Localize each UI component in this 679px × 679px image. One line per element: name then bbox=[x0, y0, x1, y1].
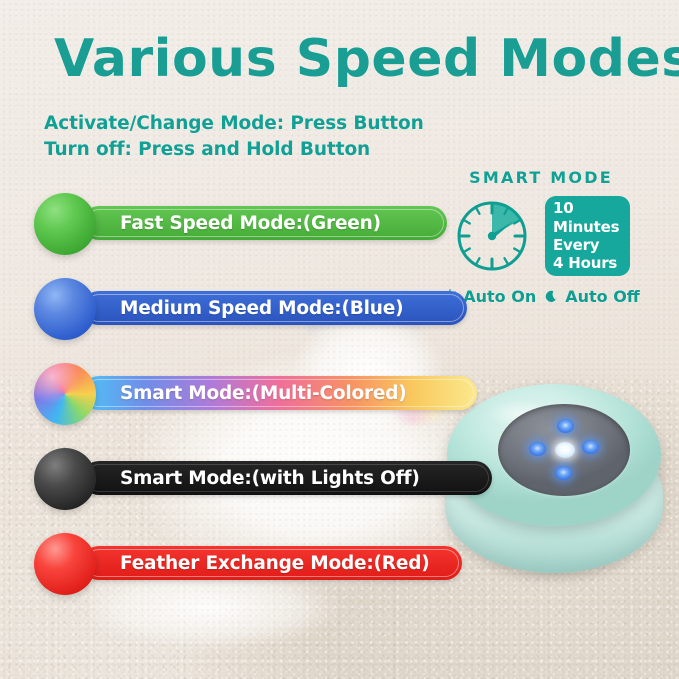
instruction-turnoff: Turn off: Press and Hold Button bbox=[44, 139, 370, 160]
mode-pill-green: Fast Speed Mode:(Green) bbox=[82, 206, 447, 240]
auto-schedule-row: Auto On Auto Off bbox=[443, 287, 639, 306]
mode-dot-red bbox=[34, 533, 96, 595]
schedule-line-3: Every bbox=[553, 236, 622, 254]
schedule-box: 10 Minutes Every 4 Hours bbox=[545, 196, 630, 276]
auto-on-label: Auto On bbox=[463, 287, 536, 306]
schedule-line-2: Minutes bbox=[553, 218, 622, 236]
moon-icon bbox=[544, 289, 560, 305]
clock-icon bbox=[452, 196, 532, 276]
mode-label-lights-off: Smart Mode:(with Lights Off) bbox=[120, 468, 420, 489]
page-title: Various Speed Modes bbox=[54, 33, 679, 85]
mode-pill-red: Feather Exchange Mode:(Red) bbox=[82, 546, 462, 580]
mode-pill-lights-off: Smart Mode:(with Lights Off) bbox=[82, 461, 492, 495]
led-top bbox=[557, 419, 574, 433]
device-top-shell bbox=[447, 384, 661, 526]
schedule-line-4: 4 Hours bbox=[553, 254, 622, 272]
mode-pill-blue: Medium Speed Mode:(Blue) bbox=[82, 291, 467, 325]
instruction-activate: Activate/Change Mode: Press Button bbox=[44, 113, 424, 134]
mode-dot-lights-off bbox=[34, 448, 96, 510]
smart-mode-title: SMART MODE bbox=[443, 168, 639, 187]
mode-pill-multicolored: Smart Mode:(Multi-Colored) bbox=[82, 376, 477, 410]
led-bottom bbox=[555, 466, 572, 480]
device-led-panel bbox=[498, 404, 630, 496]
auto-off-item: Auto Off bbox=[544, 287, 640, 306]
mode-label-green: Fast Speed Mode:(Green) bbox=[120, 213, 381, 234]
smart-mode-details: 10 Minutes Every 4 Hours bbox=[443, 196, 639, 276]
mode-label-red: Feather Exchange Mode:(Red) bbox=[120, 553, 430, 574]
mode-label-blue: Medium Speed Mode:(Blue) bbox=[120, 298, 403, 319]
led-right bbox=[582, 440, 599, 454]
mode-dot-blue bbox=[34, 278, 96, 340]
led-center bbox=[555, 442, 575, 458]
smart-mode-panel: SMART MODE bbox=[443, 168, 639, 306]
mode-dot-green bbox=[34, 193, 96, 255]
auto-off-label: Auto Off bbox=[565, 287, 640, 306]
mode-label-multicolored: Smart Mode:(Multi-Colored) bbox=[120, 383, 407, 404]
schedule-line-1: 10 bbox=[553, 199, 622, 217]
infographic-canvas: Various Speed Modes Activate/Change Mode… bbox=[0, 0, 679, 679]
led-left bbox=[529, 442, 546, 456]
mode-dot-multicolored bbox=[34, 363, 96, 425]
